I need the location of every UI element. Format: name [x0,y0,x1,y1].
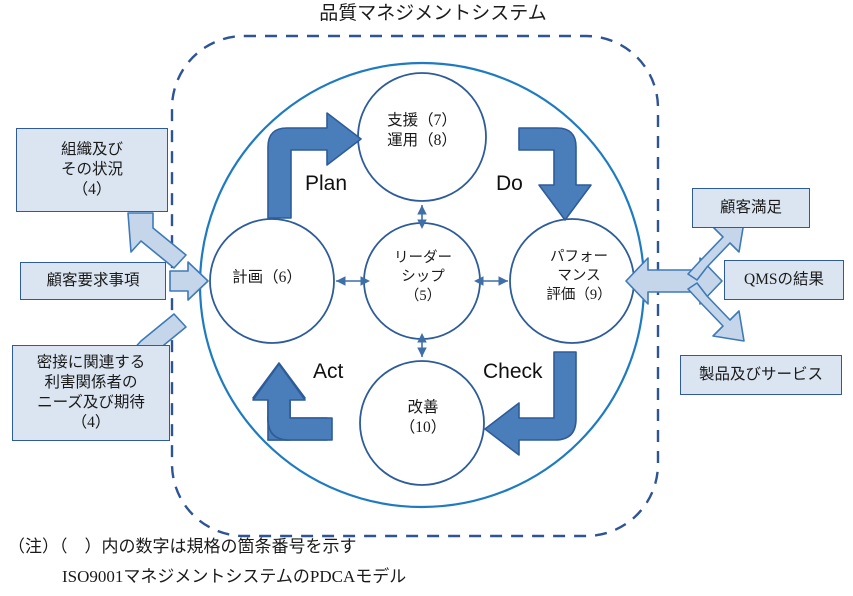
circle-label-improvement-line2: （10） [343,418,503,438]
output-box-qms-results[interactable]: QMSの結果 [724,260,844,300]
circle-label-planning: 計画（6） [187,268,347,288]
pdca-label-do: Do [496,172,523,196]
output-box-qms-results-line1: QMSの結果 [744,270,824,290]
output-box-products-services-line1: 製品及びサービス [699,365,823,385]
circle-label-leadership: リーダー シップ （5） [343,249,503,306]
input-box-customer-requirements-line1: 顧客要求事項 [46,271,139,291]
input-box-context[interactable]: 組織及び その状況 （4） [16,128,168,212]
circle-label-performance-line3: 評価（9） [499,286,659,305]
circle-label-support-line2: 運用（8） [342,131,502,151]
pdca-label-plan: Plan [305,172,347,196]
block-arrow-context-in [128,213,186,268]
circle-label-performance-line1: パフォー [499,248,659,267]
input-box-customer-requirements[interactable]: 顧客要求事項 [20,262,166,300]
circle-label-improvement: 改善 （10） [343,398,503,438]
input-box-stakeholder-line3: ニーズ及び期待 [37,393,146,413]
input-box-stakeholder-line1: 密接に関連する [37,353,146,373]
input-box-stakeholder-line2: 利害関係者の [37,373,146,393]
input-box-context-line2: その状況 [61,160,123,180]
circle-label-leadership-line2: シップ [343,268,503,287]
circle-label-support-line1: 支援（7） [342,111,502,131]
output-box-products-services[interactable]: 製品及びサービス [680,355,842,395]
circle-label-support-operation: 支援（7） 運用（8） [342,111,502,151]
circle-label-leadership-line1: リーダー [343,249,503,268]
input-box-context-line1: 組織及び [61,140,123,160]
circle-label-leadership-line3: （5） [343,287,503,306]
circle-label-planning-line1: 計画（6） [187,268,347,288]
input-box-stakeholder-needs[interactable]: 密接に関連する 利害関係者の ニーズ及び期待 （4） [12,345,170,441]
page-title: 品質マネジメントシステム [243,2,623,25]
caption-model-line: ISO9001マネジメントシステムのPDCAモデル [62,562,406,587]
pdca-label-act: Act [313,360,343,384]
circle-label-improvement-line1: 改善 [343,398,503,418]
circle-label-performance-evaluation: パフォー マンス 評価（9） [499,248,659,305]
diagram-canvas: 品質マネジメントシステム 組織及び その状況 （4） 顧客要求事項 密接に関連す… [0,0,853,596]
output-box-customer-satisfaction[interactable]: 顧客満足 [692,188,810,228]
circle-label-performance-line2: マンス [499,267,659,286]
caption-note-line: （注）（ ）内の数字は規格の箇条番号を示す [8,532,357,557]
output-box-customer-satisfaction-line1: 顧客満足 [720,198,782,218]
input-box-stakeholder-line4: （4） [37,413,146,433]
thick-arrow-do [519,128,591,220]
input-box-context-line3: （4） [61,180,123,200]
pdca-label-check: Check [483,360,543,384]
